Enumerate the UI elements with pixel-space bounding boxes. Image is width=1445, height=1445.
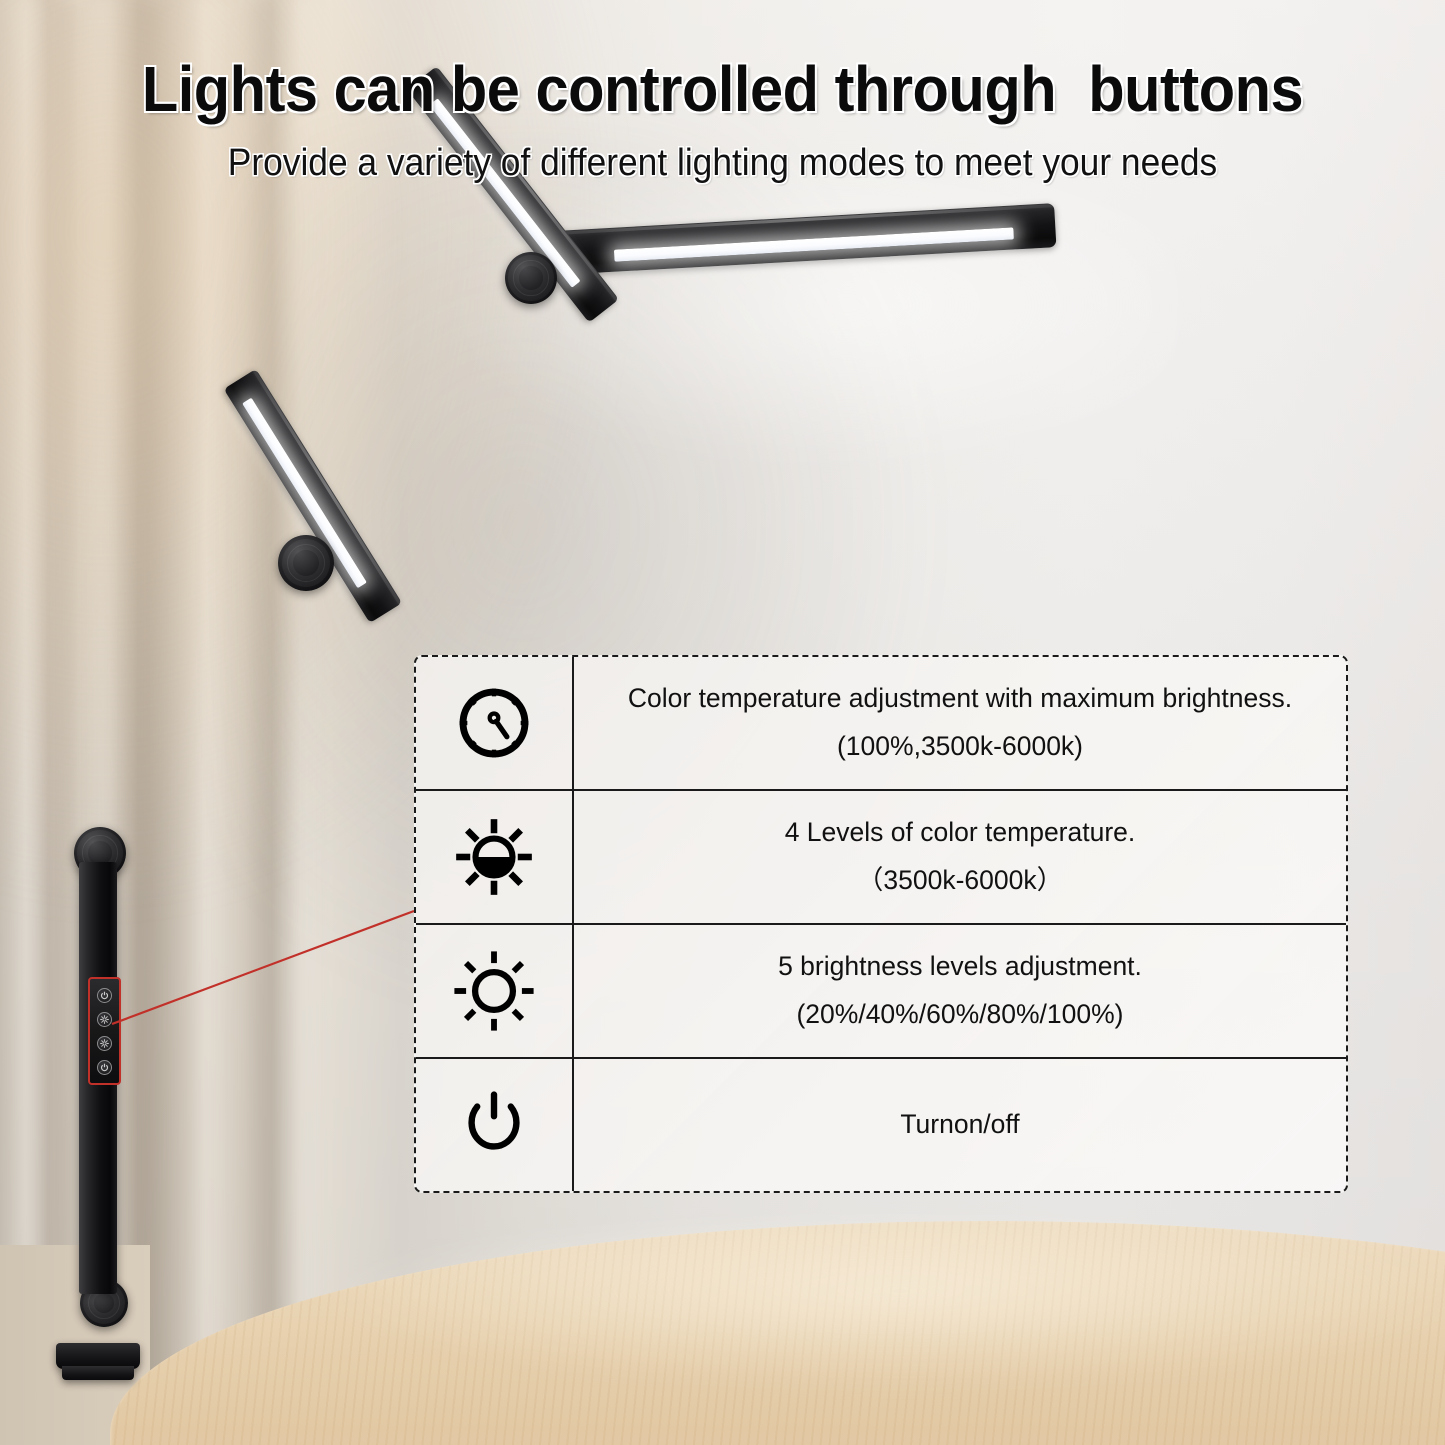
row-line-1: Color temperature adjustment with maximu… — [628, 683, 1292, 715]
row-line-2: (100%,3500k-6000k) — [837, 731, 1083, 763]
gauge-dial-icon — [416, 657, 574, 789]
power-icon — [416, 1059, 574, 1191]
table-cell-text: 5 brightness levels adjustment. (20%/40%… — [574, 925, 1346, 1057]
header: Lights can be controlled through buttons… — [0, 52, 1445, 185]
row-line-1: 5 brightness levels adjustment. — [778, 951, 1142, 983]
brightness-button[interactable] — [97, 1036, 112, 1051]
mode-button[interactable] — [97, 1060, 112, 1075]
row-line-1: 4 Levels of color temperature. — [785, 817, 1136, 849]
page-subtitle: Provide a variety of different lighting … — [51, 142, 1395, 185]
table-row: Turnon/off — [416, 1059, 1346, 1191]
lamp-joint-middle — [278, 535, 334, 591]
lamp-clamp-foot — [62, 1366, 134, 1380]
lamp-button-panel[interactable] — [88, 977, 121, 1085]
row-line-2: (20%/40%/60%/80%/100%) — [796, 999, 1123, 1031]
color-temperature-button[interactable] — [97, 1012, 112, 1027]
table-cell-text: Turnon/off — [574, 1059, 1346, 1191]
feature-table: Color temperature adjustment with maximu… — [414, 655, 1348, 1193]
table-row: Color temperature adjustment with maximu… — [416, 657, 1346, 791]
row-line-2: （3500k-6000k） — [857, 865, 1063, 897]
table-cell-text: 4 Levels of color temperature. （3500k-60… — [574, 791, 1346, 923]
lamp-joint-head — [505, 252, 557, 304]
lamp-head-segment — [555, 203, 1057, 275]
table-cell-text: Color temperature adjustment with maximu… — [574, 657, 1346, 789]
lamp-head-led-strip — [614, 227, 1014, 261]
table-row: 4 Levels of color temperature. （3500k-60… — [416, 791, 1346, 925]
table-row: 5 brightness levels adjustment. (20%/40%… — [416, 925, 1346, 1059]
page-title: Lights can be controlled through buttons — [51, 52, 1395, 126]
row-line-1: Turnon/off — [900, 1109, 1019, 1141]
color-temperature-sun-icon — [416, 791, 574, 923]
brightness-sun-icon — [416, 925, 574, 1057]
power-button[interactable] — [97, 988, 112, 1003]
